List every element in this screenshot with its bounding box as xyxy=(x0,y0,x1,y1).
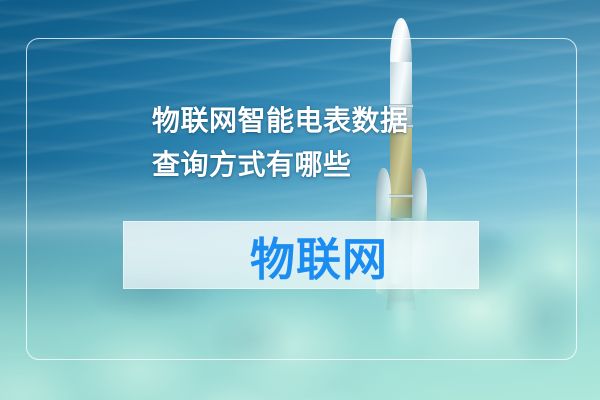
keyword-label: 物联网 xyxy=(123,221,479,289)
rocket-nose-cone xyxy=(390,18,412,64)
banner-title: 物联网智能电表数据 查询方式有哪些 xyxy=(152,99,482,187)
promo-banner: 物联网智能电表数据 查询方式有哪些 物联网 xyxy=(0,0,600,400)
